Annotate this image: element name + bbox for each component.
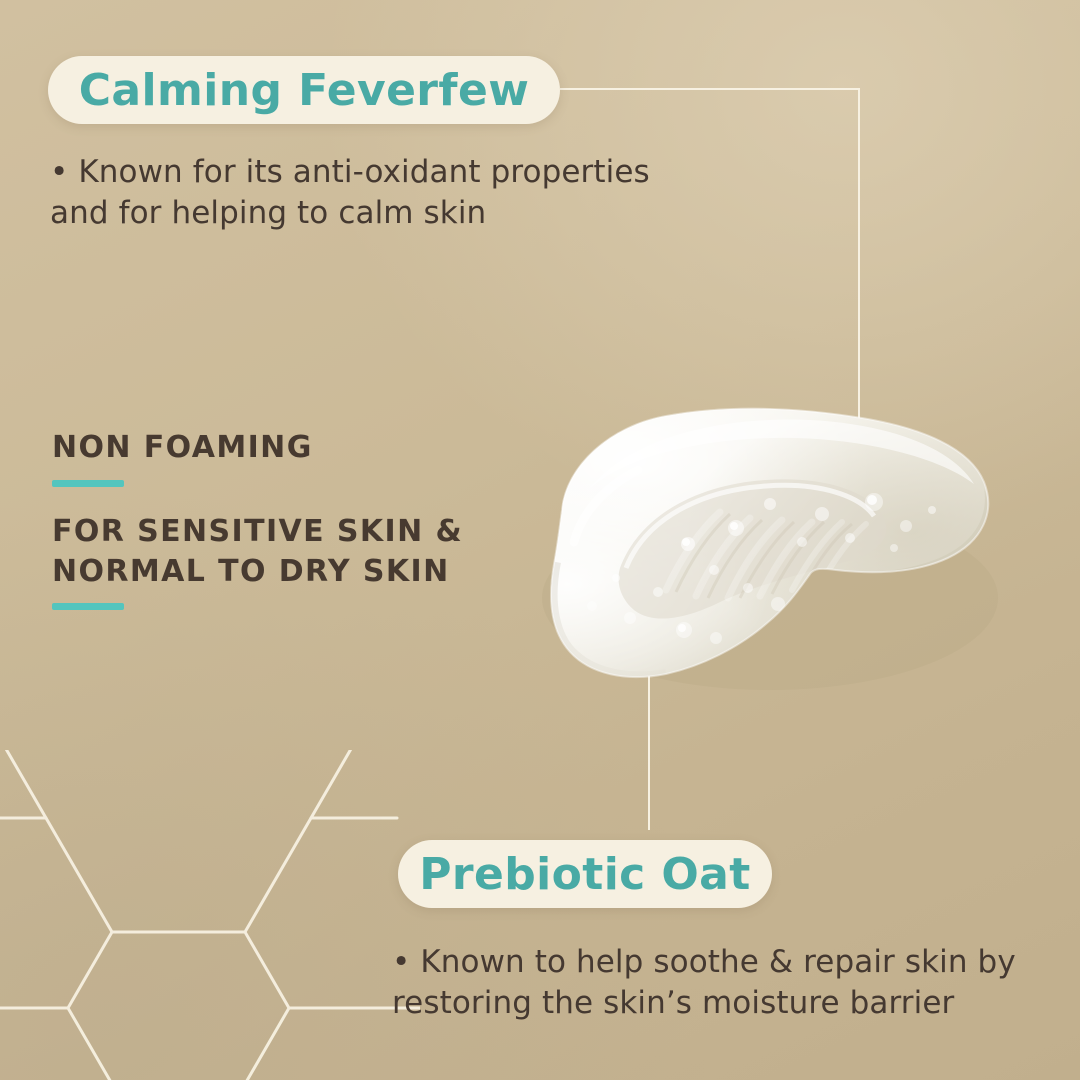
- claim-non-foaming-label: NON FOAMING: [52, 428, 313, 468]
- ingredient-pill-label-feverfew: Calming Feverfew: [79, 65, 530, 116]
- claim-non-foaming: NON FOAMING: [52, 428, 313, 487]
- connector-line-feverfew-horizontal: [560, 88, 860, 90]
- ingredient-pill-feverfew: Calming Feverfew: [48, 56, 560, 124]
- ingredient-description-feverfew: • Known for its anti-oxidant properties …: [50, 152, 710, 234]
- ingredient-pill-label-oat: Prebiotic Oat: [419, 849, 750, 900]
- cream-swatch-image: [470, 392, 1010, 702]
- honeycomb-pattern: [0, 750, 420, 1080]
- ingredient-description-oat: • Known to help soothe & repair skin by …: [392, 942, 1032, 1024]
- claim-skin-type-label: FOR SENSITIVE SKIN & NORMAL TO DRY SKIN: [52, 512, 463, 591]
- claim-skin-type-rule: [52, 603, 124, 610]
- connector-line-feverfew-vertical: [858, 88, 860, 428]
- claim-non-foaming-rule: [52, 480, 124, 487]
- ingredient-pill-oat: Prebiotic Oat: [398, 840, 772, 908]
- claim-skin-type: FOR SENSITIVE SKIN & NORMAL TO DRY SKIN: [52, 512, 463, 610]
- infographic-canvas: Calming Feverfew • Known for its anti-ox…: [0, 0, 1080, 1080]
